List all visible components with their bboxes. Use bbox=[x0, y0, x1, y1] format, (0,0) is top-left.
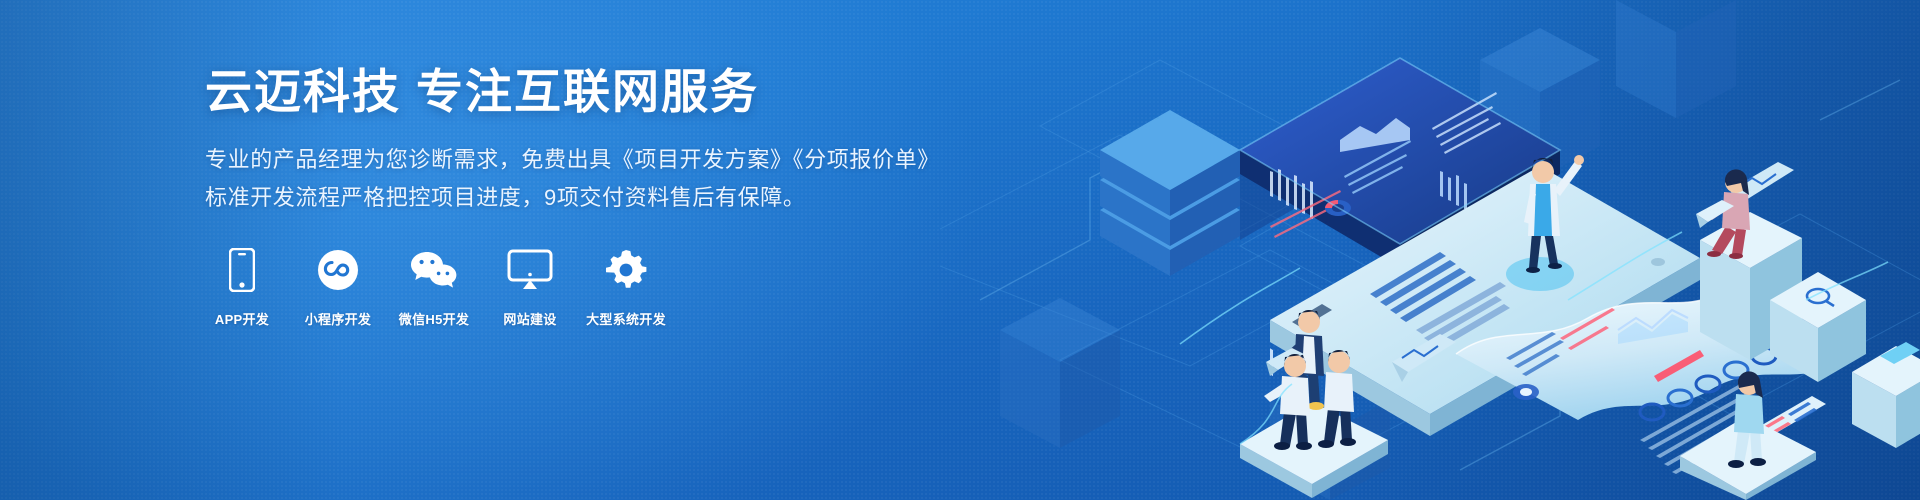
page-title: 云迈科技 专注互联网服务 bbox=[205, 66, 940, 119]
service-item-app[interactable]: APP开发 bbox=[205, 247, 279, 328]
service-item-large-system[interactable]: 大型系统开发 bbox=[589, 247, 663, 328]
isometric-business-analytics-illustration bbox=[940, 0, 1920, 500]
promo-banner: 云迈科技 专注互联网服务 专业的产品经理为您诊断需求，免费出具《项目开发方案》《… bbox=[0, 0, 1920, 500]
service-label-large-system: 大型系统开发 bbox=[586, 309, 666, 328]
gear-icon bbox=[604, 247, 648, 293]
service-item-website[interactable]: 网站建设 bbox=[493, 247, 567, 328]
banner-subtitle: 专业的产品经理为您诊断需求，免费出具《项目开发方案》《分项报价单》 标准开发流程… bbox=[205, 141, 940, 218]
service-label-wechat-h5: 微信H5开发 bbox=[399, 309, 469, 328]
service-list: APP开发 小程序开发 bbox=[205, 247, 940, 328]
mini-program-icon bbox=[317, 247, 359, 293]
service-label-website: 网站建设 bbox=[503, 309, 556, 328]
subtitle-line-2: 标准开发流程严格把控项目进度，9项交付资料售后有保障。 bbox=[205, 179, 940, 217]
service-item-wechat-h5[interactable]: 微信H5开发 bbox=[397, 247, 471, 328]
banner-content: 云迈科技 专注互联网服务 专业的产品经理为您诊断需求，免费出具《项目开发方案》《… bbox=[205, 66, 940, 328]
subtitle-line-1: 专业的产品经理为您诊断需求，免费出具《项目开发方案》《分项报价单》 bbox=[205, 141, 940, 179]
service-label-app: APP开发 bbox=[215, 309, 269, 328]
service-label-miniprogram: 小程序开发 bbox=[305, 309, 372, 328]
mobile-phone-icon bbox=[229, 247, 255, 293]
monitor-icon bbox=[507, 247, 553, 293]
service-item-miniprogram[interactable]: 小程序开发 bbox=[301, 247, 375, 328]
wechat-bubbles-icon bbox=[409, 247, 459, 293]
